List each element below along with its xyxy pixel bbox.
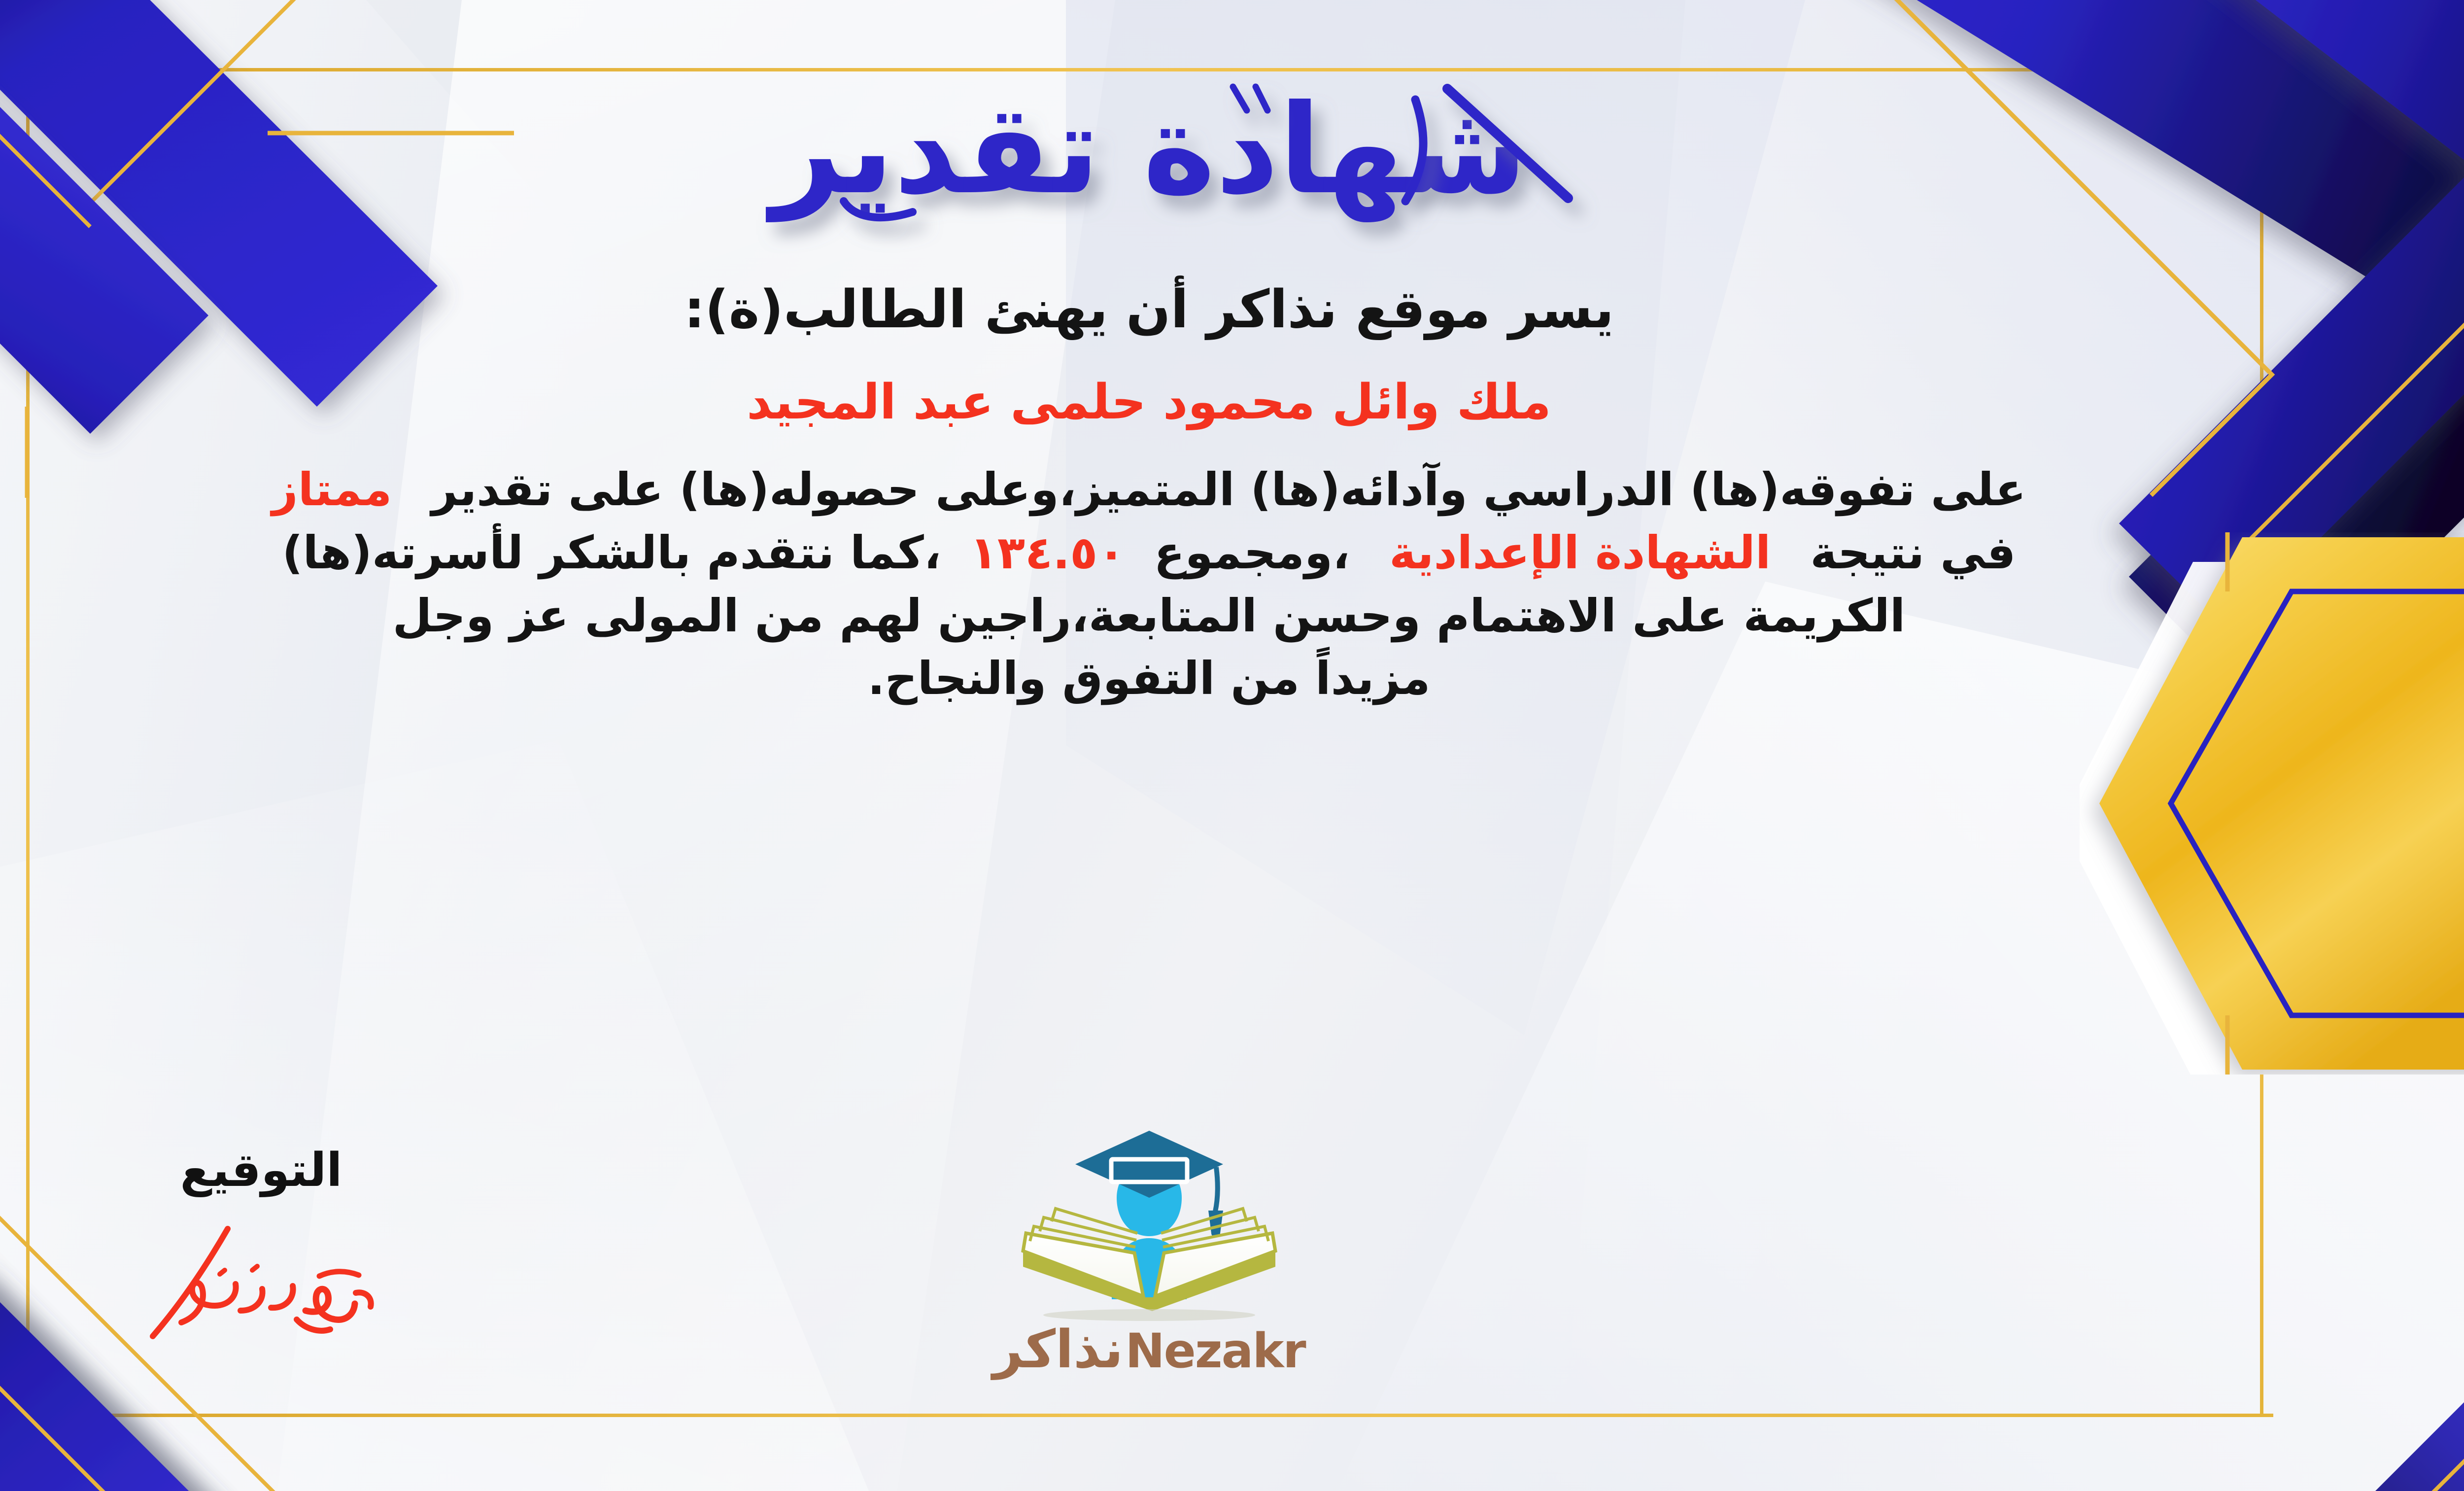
certificate-title: شهادة تقدير [0, 69, 2464, 246]
exam-name: الشهادة الإعدادية [1366, 526, 1794, 579]
closing-line: مزيداً من التفوق والنجاح. [65, 650, 2233, 708]
result-prefix: في نتيجة [1810, 526, 2016, 579]
certificate-body: يسر موقع نذاكر أن يهنئ الطالب(ة): ملك وا… [65, 276, 2233, 713]
gratitude-line: الكريمة على الاهتمام وحسن المتابعة،راجين… [65, 587, 2233, 645]
certificate-page: شهادة تقدير يسر موقع نذاكر أن يهنئ الطال… [0, 0, 2464, 1491]
signature-mark [59, 1219, 463, 1347]
intro-line: يسر موقع نذاكر أن يهنئ الطالب(ة): [65, 276, 2233, 343]
achievement-text: على تفوقه(ها) الدراسي وآدائه(ها) المتميز… [431, 463, 2026, 516]
site-logo: Nezakr نذاكر [947, 1124, 1351, 1380]
thanks-text: ،كما نتقدم بالشكر لأسرته(ها) [282, 526, 941, 579]
signature-label: التوقيع [59, 1144, 463, 1197]
certificate-footer: التوقيع [0, 1134, 2464, 1439]
achievement-line: على تفوقه(ها) الدراسي وآدائه(ها) المتميز… [26, 461, 2273, 519]
logo-name-en: Nezakr [1125, 1323, 1305, 1379]
logo-name-ar: نذاكر [992, 1319, 1123, 1380]
logo-wordmark: Nezakr نذاكر [992, 1319, 1305, 1380]
handwritten-signature-icon [123, 1219, 399, 1347]
student-name: ملك وائل محمود حلمى عبد المجيد [65, 372, 2233, 433]
graduate-book-icon [1011, 1124, 1287, 1321]
signature-block: التوقيع [59, 1144, 463, 1347]
total-prefix: ،ومجموع [1154, 526, 1350, 579]
result-line: في نتيجة الشهادة الإعدادية ،ومجموع ١٣٤.٥… [26, 524, 2273, 582]
grade-value: ممتاز [272, 463, 416, 516]
title-calligraphy-icon: شهادة تقدير [681, 69, 1617, 246]
total-score: ١٣٤.٥٠ [957, 526, 1138, 579]
